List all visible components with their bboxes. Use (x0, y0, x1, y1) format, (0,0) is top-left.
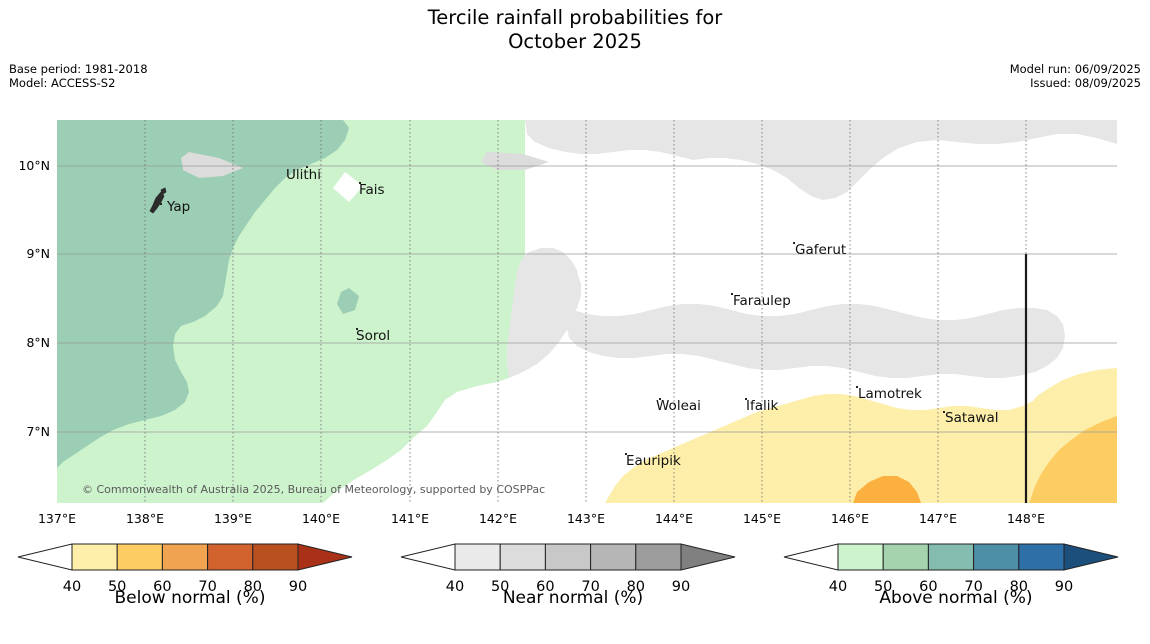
metadata-left: Base period: 1981-2018 Model: ACCESS-S2 (9, 62, 148, 90)
metadata-right: Model run: 06/09/2025 Issued: 08/09/2025 (1010, 62, 1141, 90)
colorbar-title: Near normal (%) (393, 588, 753, 608)
x-tick-label: 146°E (810, 511, 890, 526)
title-line-1: Tercile rainfall probabilities for (0, 6, 1150, 30)
colorbar-under-arrow (784, 544, 838, 570)
colorbar-segment[interactable] (591, 544, 636, 570)
colorbar-swatches (10, 538, 370, 578)
place-marker-dot (356, 328, 358, 330)
place-marker-dot (856, 386, 858, 388)
colorbar-over-arrow (298, 544, 352, 570)
y-tick-label: 10°N (2, 158, 50, 173)
place-label: Gaferut (795, 242, 846, 258)
place-label: Fais (359, 182, 385, 198)
colorbar-segment[interactable] (928, 544, 973, 570)
place-marker-dot (745, 398, 747, 400)
place-marker-dot (659, 398, 661, 400)
place-marker-dot (306, 166, 308, 168)
colorbar-over-arrow (1064, 544, 1118, 570)
place-label: Eauripik (626, 453, 681, 469)
colorbar-over-arrow (681, 544, 735, 570)
x-tick-label: 143°E (546, 511, 626, 526)
x-tick-label: 142°E (458, 511, 538, 526)
place-label: Ifalik (746, 398, 778, 414)
copyright-attribution: © Commonwealth of Australia 2025, Bureau… (82, 483, 545, 496)
x-tick-label: 144°E (634, 511, 714, 526)
y-tick-label: 7°N (2, 424, 50, 439)
colorbar-segment[interactable] (72, 544, 117, 570)
x-tick-label: 147°E (898, 511, 978, 526)
colorbar-segment[interactable] (208, 544, 253, 570)
map-canvas (57, 120, 1117, 503)
page-title: Tercile rainfall probabilities for Octob… (0, 6, 1150, 54)
colorbar-segment[interactable] (636, 544, 681, 570)
colorbar-under-arrow (18, 544, 72, 570)
place-marker-dot (359, 182, 361, 184)
x-tick-label: 141°E (370, 511, 450, 526)
colorbar-near-normal[interactable]: 405060708090Near normal (%) (393, 538, 753, 638)
place-marker-dot (731, 293, 733, 295)
x-tick-label: 137°E (17, 511, 97, 526)
colorbar-above-normal[interactable]: 405060708090Above normal (%) (776, 538, 1136, 638)
colorbar-segment[interactable] (974, 544, 1019, 570)
place-label: Lamotrek (858, 386, 922, 402)
place-label: Faraulep (733, 293, 791, 309)
colorbar-swatches (776, 538, 1136, 578)
place-marker-dot (625, 453, 627, 455)
colorbar-segment[interactable] (838, 544, 883, 570)
colorbar-segment[interactable] (117, 544, 162, 570)
colorbar-segment[interactable] (545, 544, 590, 570)
place-marker-dot (793, 242, 795, 244)
x-tick-label: 139°E (193, 511, 273, 526)
x-tick-label: 148°E (986, 511, 1066, 526)
place-label: Woleai (656, 398, 701, 414)
place-label: Yap (167, 199, 190, 215)
colorbar-segment[interactable] (455, 544, 500, 570)
model-label: Model: ACCESS-S2 (9, 76, 148, 90)
colorbar-segment[interactable] (162, 544, 207, 570)
y-tick-label: 8°N (2, 335, 50, 350)
x-tick-label: 140°E (281, 511, 361, 526)
colorbar-segment[interactable] (500, 544, 545, 570)
colorbar-swatches (393, 538, 753, 578)
place-label: Sorol (356, 328, 390, 344)
title-line-2: October 2025 (0, 30, 1150, 54)
colorbar-below-normal[interactable]: 405060708090Below normal (%) (10, 538, 370, 638)
place-label: Ulithi (286, 167, 321, 183)
place-marker-dot (160, 203, 162, 205)
base-period-label: Base period: 1981-2018 (9, 62, 148, 76)
x-tick-label: 145°E (722, 511, 802, 526)
probability-map: UlithiFaisYapSorolGaferutFaraulepWoleaiI… (57, 120, 1117, 503)
colorbar-segment[interactable] (1019, 544, 1064, 570)
x-tick-label: 138°E (105, 511, 185, 526)
place-marker-dot (943, 411, 945, 413)
colorbar-segment[interactable] (253, 544, 298, 570)
y-tick-label: 9°N (2, 246, 50, 261)
colorbar-segment[interactable] (883, 544, 928, 570)
place-label: Satawal (945, 410, 998, 426)
colorbar-title: Below normal (%) (10, 588, 370, 608)
issued-label: Issued: 08/09/2025 (1010, 76, 1141, 90)
colorbar-under-arrow (401, 544, 455, 570)
model-run-label: Model run: 06/09/2025 (1010, 62, 1141, 76)
colorbar-title: Above normal (%) (776, 588, 1136, 608)
